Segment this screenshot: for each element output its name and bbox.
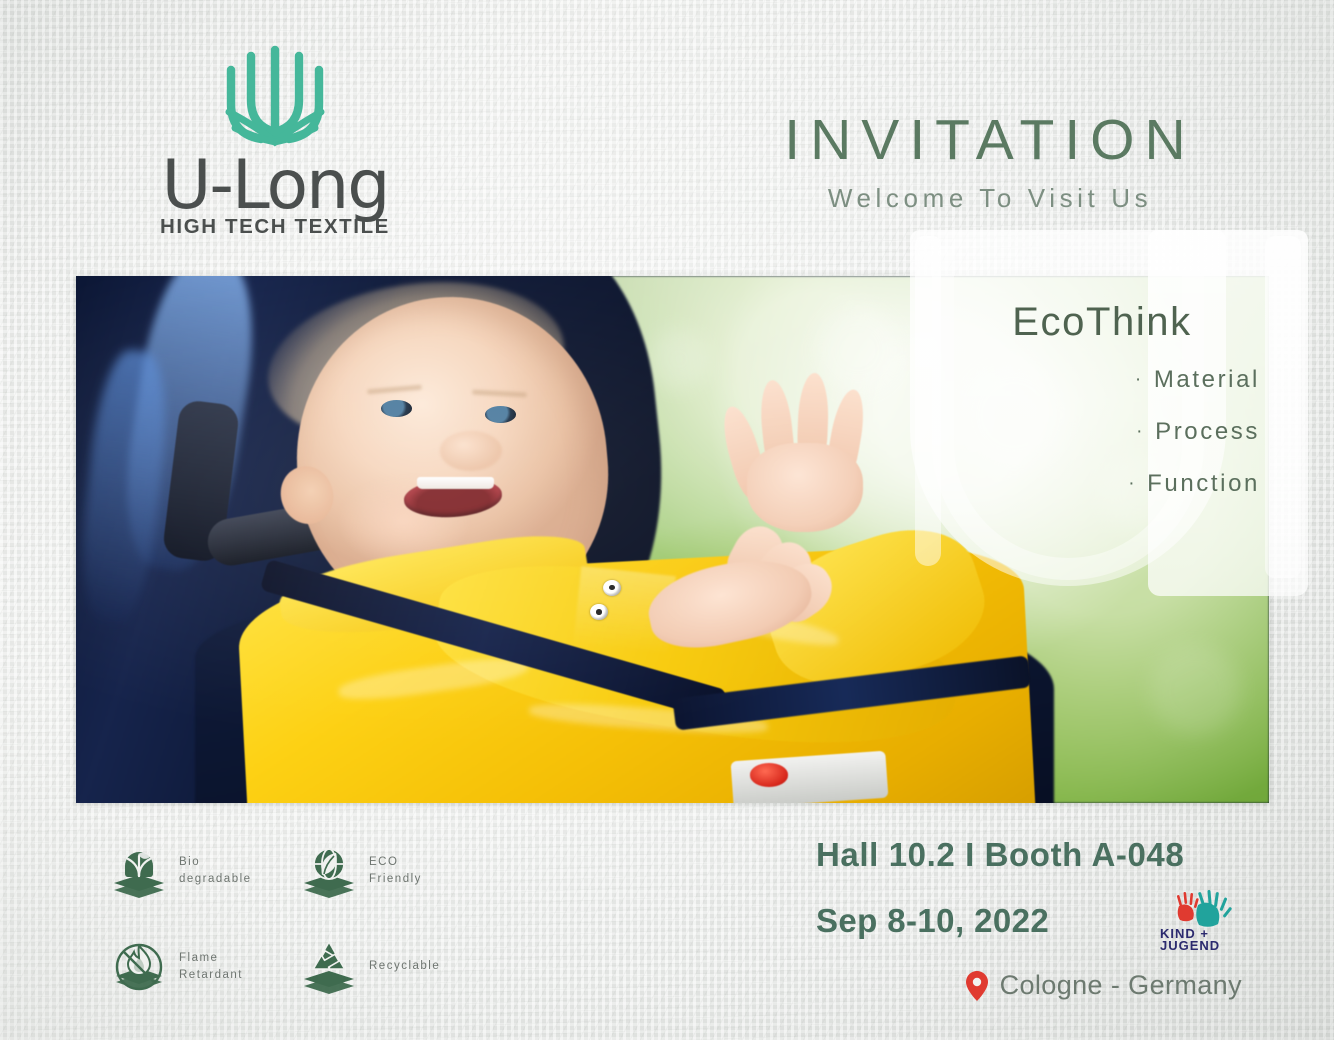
bullet-icon: · [1136, 421, 1145, 442]
recyclable-icon [298, 938, 360, 996]
certification-eco-friendly: ECOFriendly [298, 842, 488, 900]
certification-badges: Biodegradable [108, 842, 488, 1034]
event-dates: Sep 8-10, 2022 [816, 902, 1154, 940]
certification-recyclable: Recyclable [298, 938, 488, 996]
woven-u-mark-icon [215, 42, 335, 150]
ecothink-item-label: Material [1154, 366, 1260, 393]
brand-logo: U-Long HIGH TECH TEXTILE [140, 42, 410, 239]
page-title: INVITATION [750, 112, 1230, 169]
poster-canvas: U-Long HIGH TECH TEXTILE INVITATION Welc… [0, 0, 1334, 1040]
certification-bio-degradable: Biodegradable [108, 842, 298, 900]
event-details: Hall 10.2 I Booth A-048 Sep 8-10, 2022 [816, 836, 1246, 1001]
ecothink-item-label: Process [1155, 418, 1260, 445]
certification-flame-retardant: FlameRetardant [108, 938, 298, 996]
event-city: Cologne - Germany [1000, 970, 1242, 1001]
wordmark: U-Long [140, 154, 410, 219]
ecothink-title: EcoThink [960, 300, 1260, 344]
hall-booth-text: Hall 10.2 I Booth A-048 [816, 836, 1246, 874]
flame-retardant-icon [108, 938, 170, 996]
brand-tagline: HIGH TECH TEXTILE [140, 215, 410, 239]
map-pin-icon [966, 971, 988, 1001]
certification-label: ECOFriendly [369, 854, 422, 889]
kind-jugend-logo: KIND + JUGEND [1154, 890, 1246, 952]
bullet-icon: · [1128, 473, 1137, 494]
bullet-icon: · [1135, 369, 1144, 390]
list-item: ·Function [960, 470, 1260, 498]
baby-hand-lower [637, 518, 828, 644]
ecothink-panel: EcoThink ·Material ·Process ·Function [960, 300, 1260, 522]
kind-jugend-logo-icon: KIND + JUGEND [1154, 890, 1246, 952]
certification-label: Recyclable [369, 958, 440, 975]
invitation-header: INVITATION Welcome To Visit Us [750, 112, 1230, 214]
bio-degradable-icon [108, 842, 170, 900]
ecothink-list: ·Material ·Process ·Function [960, 366, 1260, 498]
list-item: ·Process [960, 418, 1260, 446]
eco-friendly-icon [298, 842, 360, 900]
ecothink-item-label: Function [1147, 470, 1260, 497]
page-subtitle: Welcome To Visit Us [750, 183, 1230, 214]
list-item: ·Material [960, 366, 1260, 394]
certification-label: Biodegradable [179, 854, 252, 889]
kj-line2: JUGEND [1160, 938, 1220, 952]
baby-hand-raised [726, 373, 875, 531]
certification-label: FlameRetardant [179, 950, 243, 985]
